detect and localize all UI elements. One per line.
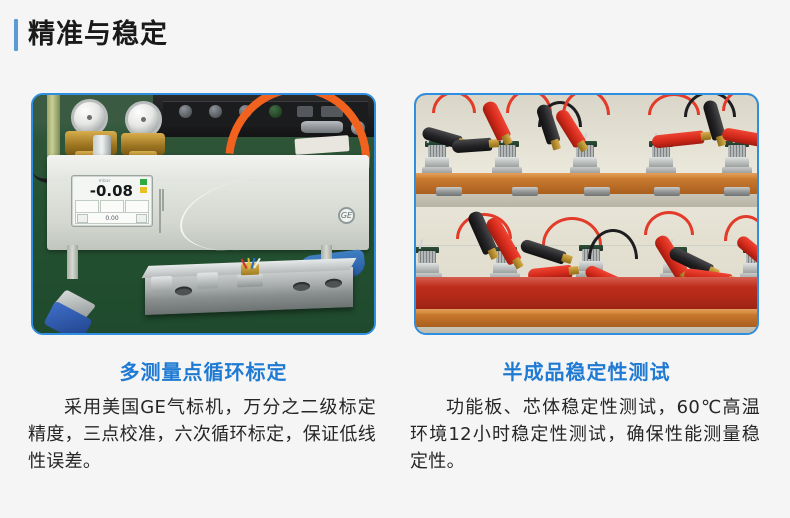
section-heading: 精准与稳定 — [14, 18, 168, 52]
status-indicator-yellow — [140, 187, 147, 193]
card-title-stability: 半成品稳定性测试 — [414, 359, 759, 385]
blue-handle-tool — [47, 295, 109, 335]
ge-logo: GE — [338, 207, 355, 224]
promo-page: 精准与稳定 — [0, 0, 790, 518]
status-indicator-green — [140, 179, 147, 185]
steel-manifold-bar — [145, 267, 353, 315]
feature-card-stability: 半成品稳定性测试 功能板、芯体稳定性测试，60℃高温环境12小时稳定性测试，确保… — [414, 93, 759, 475]
pace5000-calibrator: GE DruckDruck PACE5000 mbar -0.08 — [47, 155, 369, 250]
sensor-under-test — [237, 256, 263, 287]
stability-test-shelf-photo — [414, 93, 759, 335]
calibrator-display[interactable]: mbar -0.08 — [71, 175, 153, 227]
card-body-calibration: 采用美国GE气标机，万分之二级标定精度，三点校准，六次循环标定，保证低线性误差。 — [28, 394, 376, 475]
display-secondary-reading: 0.00 — [76, 215, 148, 222]
heading-accent-bar — [14, 19, 18, 51]
card-body-stability: 功能板、芯体稳定性测试，60℃高温环境12小时稳定性测试，确保性能测量稳定性。 — [410, 394, 760, 475]
display-reading: -0.08 — [75, 183, 135, 199]
page-title: 精准与稳定 — [28, 19, 168, 51]
pressure-calibration-bench-photo: GE DruckDruck PACE5000 mbar -0.08 — [31, 93, 376, 335]
card-title-calibration: 多测量点循环标定 — [31, 359, 376, 385]
display-bottom-bar[interactable]: 0.00 — [75, 212, 149, 224]
feature-card-calibration: GE DruckDruck PACE5000 mbar -0.08 — [31, 93, 376, 475]
